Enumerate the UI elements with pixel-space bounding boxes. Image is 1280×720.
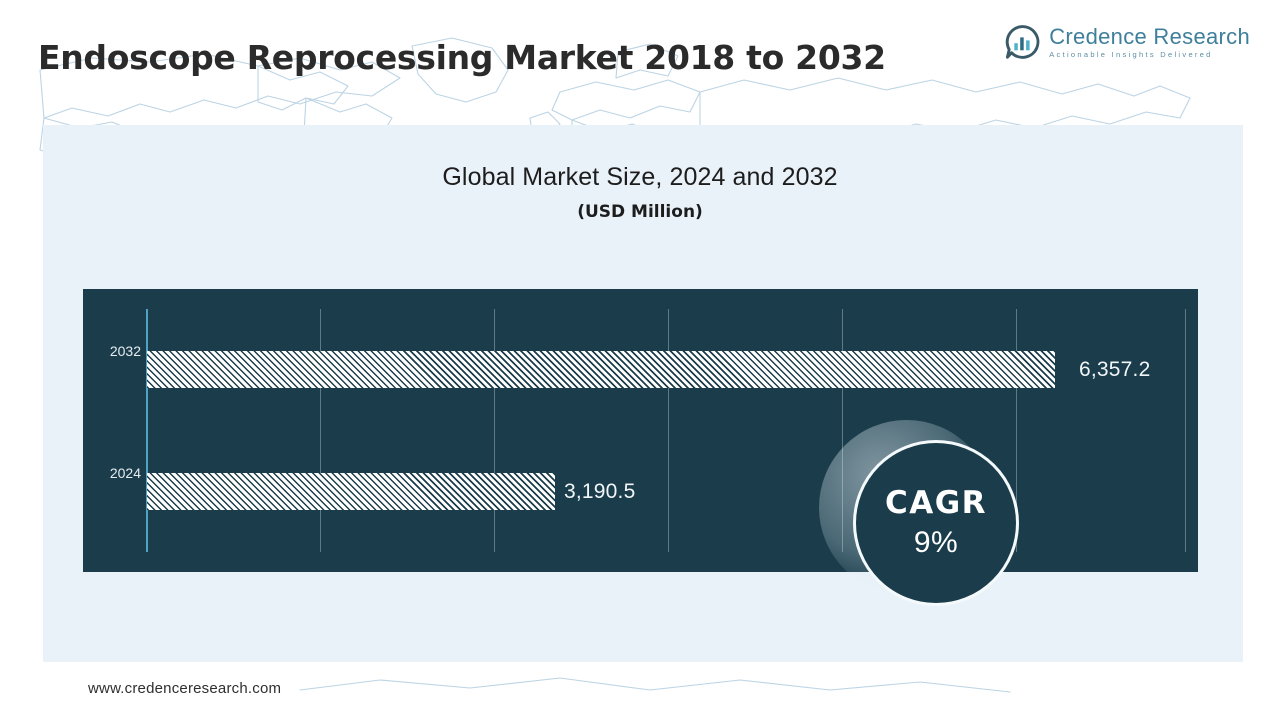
page-title: Endoscope Reprocessing Market 2018 to 20… [38, 38, 886, 77]
bar-2032 [147, 351, 1055, 388]
brand-logo[interactable]: Credence Research Actionable Insights De… [1004, 24, 1250, 60]
bar-value-2024: 3,190.5 [564, 480, 635, 504]
brand-tagline: Actionable Insights Delivered [1049, 50, 1250, 59]
category-label-2032: 2032 [89, 343, 141, 359]
chart-title: Global Market Size, 2024 and 2032 [0, 163, 1280, 192]
axis-line [146, 309, 148, 552]
gridline-1 [320, 309, 321, 552]
cagr-badge: CAGR 9% [853, 440, 1019, 606]
circle-bar-chart-icon [1004, 24, 1040, 60]
chart-plot-area: 2032 6,357.2 2024 3,190.5 [83, 289, 1198, 572]
chart-units-label: (USD Million) [0, 202, 1280, 222]
gridline-3 [668, 309, 669, 552]
cagr-value: 9% [914, 528, 958, 558]
brand-text: Credence Research Actionable Insights De… [1049, 25, 1250, 59]
bar-2024 [147, 473, 555, 510]
category-label-2024: 2024 [89, 465, 141, 481]
brand-name: Credence Research [1049, 25, 1250, 48]
bar-value-2032: 6,357.2 [1079, 358, 1150, 382]
gridline-4 [842, 309, 843, 552]
gridline-6 [1185, 309, 1186, 552]
gridline-2 [494, 309, 495, 552]
chart-infographic: Endoscope Reprocessing Market 2018 to 20… [0, 0, 1280, 720]
cagr-label: CAGR [885, 488, 987, 519]
footer-url[interactable]: www.credenceresearch.com [88, 680, 281, 697]
